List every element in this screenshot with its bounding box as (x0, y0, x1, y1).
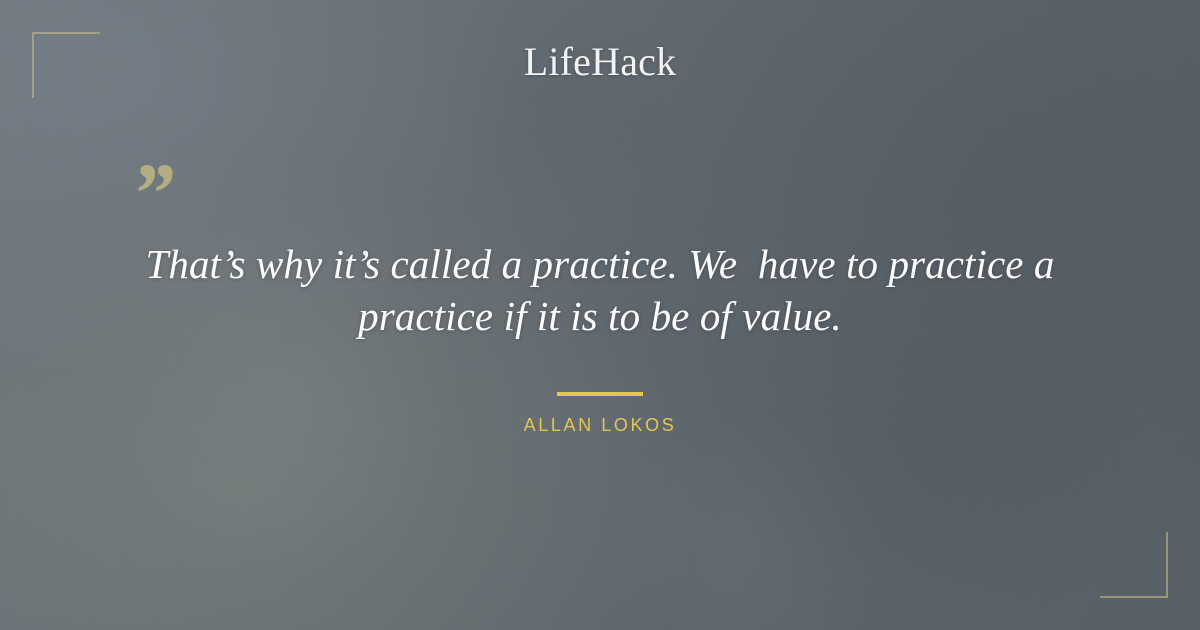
quotation-mark-icon: ” (131, 150, 174, 236)
quote-author: ALLAN LOKOS (0, 412, 1200, 438)
corner-bracket-bottom-right-icon (1100, 532, 1168, 598)
accent-divider (557, 392, 643, 396)
quote-block: That’s why it’s called a practice. We ha… (0, 238, 1200, 342)
divider-wrapper (0, 383, 1200, 401)
quote-card: LifeHack ” That’s why it’s called a prac… (0, 0, 1200, 630)
lifehack-logo: LifeHack (0, 38, 1200, 86)
quote-text: That’s why it’s called a practice. We ha… (135, 238, 1065, 342)
